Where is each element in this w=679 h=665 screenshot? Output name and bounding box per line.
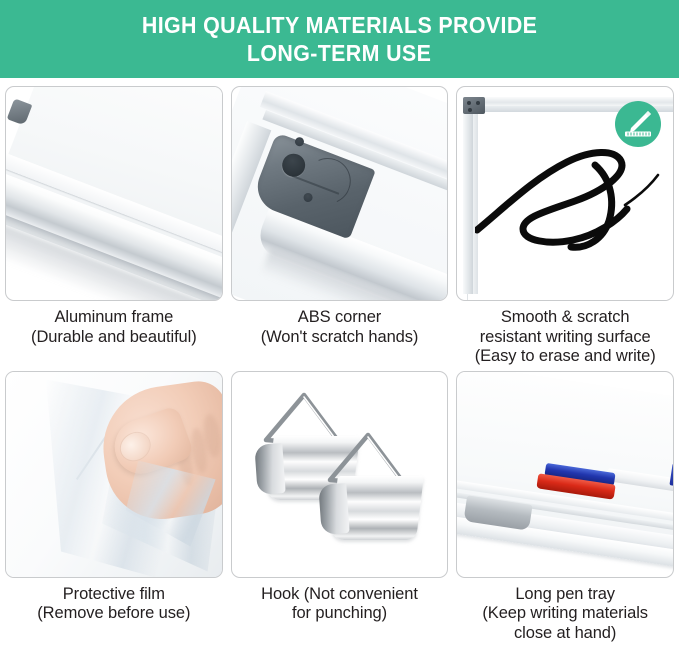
feature-image-hook (231, 371, 449, 578)
abs-corner-hole-1 (467, 101, 471, 105)
header-title-line-2: LONG-TERM USE (247, 40, 431, 67)
feature-image-writing-surface (456, 86, 674, 301)
pen-eraser-badge (615, 101, 661, 147)
feature-grid: Aluminum frame (Durable and beautiful) A… (0, 86, 679, 643)
abs-corner-hole-3 (468, 108, 472, 112)
feature-caption-protective-film: Protective film (Remove before use) (37, 585, 190, 624)
header-title-line-1: HIGH QUALITY MATERIALS PROVIDE (142, 12, 537, 39)
feature-image-protective-film (5, 371, 223, 578)
abs-corner-hole-2 (476, 101, 480, 105)
feature-card-protective-film: Protective film (Remove before use) (6, 371, 222, 644)
frame-side-rail (463, 97, 473, 294)
feature-image-pen-tray (456, 371, 674, 578)
feature-image-abs-corner (231, 86, 449, 301)
infographic-sheet: HIGH QUALITY MATERIALS PROVIDE LONG-TERM… (0, 0, 679, 665)
feature-caption-hook: Hook (Not convenient for punching) (261, 585, 418, 624)
feature-caption-pen-tray: Long pen tray (Keep writing materials cl… (482, 585, 648, 644)
hook-item-2 (320, 432, 424, 544)
pen-eraser-icon (621, 107, 655, 141)
abs-corner-piece (463, 97, 485, 114)
feature-card-pen-tray: Long pen tray (Keep writing materials cl… (457, 371, 673, 644)
feature-card-writing-surface: Smooth & scratch resistant writing surfa… (457, 86, 673, 367)
feature-card-abs-corner: ABS corner (Won't scratch hands) (232, 86, 448, 367)
feature-image-aluminum-frame (5, 86, 223, 301)
feature-caption-abs-corner: ABS corner (Won't scratch hands) (261, 308, 419, 347)
feature-card-aluminum-frame: Aluminum frame (Durable and beautiful) (6, 86, 222, 367)
thumbnail (115, 427, 154, 465)
hook-clip-lip (318, 483, 349, 535)
marker-scribble-icon (475, 135, 665, 265)
feature-caption-aluminum-frame: Aluminum frame (Durable and beautiful) (31, 308, 197, 347)
feature-card-hook: Hook (Not convenient for punching) (232, 371, 448, 644)
header-banner: HIGH QUALITY MATERIALS PROVIDE LONG-TERM… (0, 0, 679, 78)
hook-clip-lip (254, 443, 285, 495)
feature-caption-writing-surface: Smooth & scratch resistant writing surfa… (475, 308, 656, 367)
